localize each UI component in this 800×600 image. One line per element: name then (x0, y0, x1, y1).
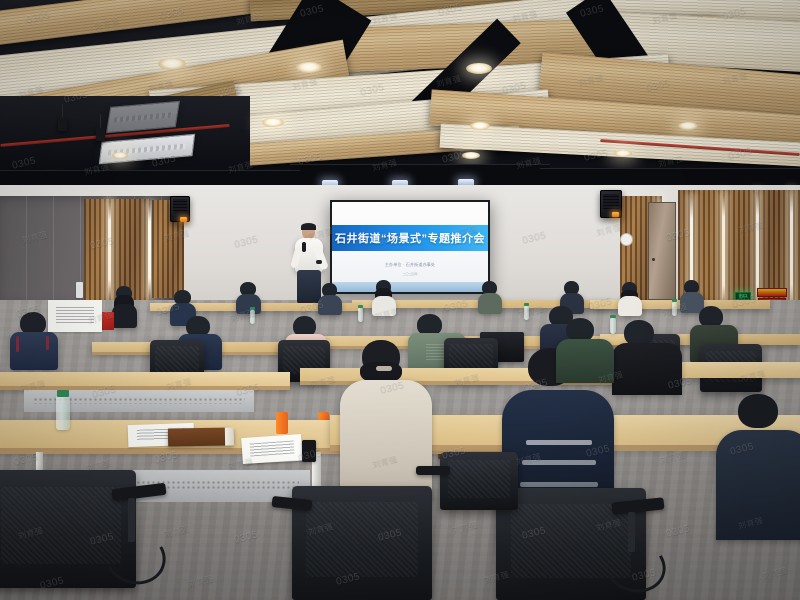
chair-armrest[interactable] (416, 466, 450, 475)
ceiling-downlight (470, 122, 490, 130)
ceiling-downlight (296, 62, 322, 73)
presenter (292, 224, 326, 304)
projection-screen: 石井街道“场景式”专题推介会 主办单位 · 石井街道办事处 二〇二四年 (330, 200, 490, 294)
bottle-cap (358, 305, 363, 308)
water-bottle (672, 302, 677, 316)
slide-subtitle: 主办单位 · 石井街道办事处 (332, 262, 488, 268)
lanyard-icon (16, 336, 19, 352)
office-chair[interactable] (440, 452, 518, 510)
side-door[interactable] (648, 202, 676, 300)
document-sheet (241, 434, 303, 464)
document-sheet (48, 300, 102, 332)
ceiling-downlight (262, 118, 284, 127)
water-bottle (610, 318, 616, 334)
bottle-cap (672, 299, 677, 302)
ceiling: 出口 出口 出口 (0, 0, 800, 200)
speaker-indicator-icon (180, 217, 187, 222)
ceiling-downlight (614, 150, 632, 157)
ceiling-downlight (112, 152, 128, 159)
person-head (738, 394, 778, 428)
person-torso (556, 339, 614, 383)
water-bottle (524, 306, 529, 320)
red-desk-item (100, 312, 114, 330)
exit-sign-label: 出口 (739, 294, 748, 298)
wristwatch-icon (316, 260, 322, 264)
person-torso (112, 304, 137, 328)
door-handle-icon[interactable] (652, 258, 655, 261)
microphone-icon (302, 242, 306, 252)
thermos-bottle (276, 412, 288, 434)
slide-title: 石井街道“场景式”专题推介会 (335, 230, 485, 246)
bottle-cap (250, 307, 255, 310)
person-torso (612, 343, 682, 395)
mobile-phone (302, 440, 316, 462)
presenter-trousers (297, 270, 321, 304)
ceiling-downlight (462, 152, 480, 159)
ceiling-downlight (678, 122, 698, 130)
bottle-cap (524, 303, 529, 306)
person-torso (236, 294, 261, 314)
office-chair-foreground[interactable] (292, 486, 432, 600)
lanyard-icon (46, 336, 49, 350)
slide-footer-strip (332, 282, 488, 292)
conference-room-photo: 出口 出口 出口 (0, 0, 800, 600)
hand-sanitizer-bottle (76, 282, 83, 298)
wall-clock-icon (620, 233, 633, 246)
shirt-stripe (522, 460, 596, 465)
pendant-speaker (96, 128, 105, 141)
ceiling-downlight (466, 63, 492, 74)
bottle-cap (57, 390, 69, 397)
bottle-cap (610, 315, 616, 318)
presenter-hair (301, 223, 316, 230)
ceiling-downlight (158, 58, 186, 70)
slide-subtitle-small: 二〇二四年 (332, 272, 488, 276)
pendant-speaker (58, 118, 67, 131)
wall-led-strip (790, 190, 793, 308)
person-torso (716, 430, 800, 540)
hair-clip-icon (376, 366, 392, 371)
slide-title-banner: 石井街道“场景式”专题推介会 (332, 225, 488, 251)
wall-led-strip (148, 203, 151, 297)
person-torso (340, 380, 432, 500)
speaker-indicator-icon (612, 212, 619, 217)
wall-led-strip (108, 201, 111, 299)
person-torso (618, 296, 642, 316)
water-bottle (56, 396, 70, 430)
leather-notebook (168, 427, 234, 446)
projected-slide: 石井街道“场景式”专题推介会 主办单位 · 石井街道办事处 二〇二四年 (332, 202, 488, 292)
exit-sign-icon: 出口 (735, 292, 751, 300)
wall-led-strip (722, 194, 725, 308)
person-torso (372, 296, 396, 316)
shirt-stripe (520, 482, 598, 487)
fire-safety-sign (757, 288, 787, 297)
person-torso (318, 295, 342, 315)
person-torso (478, 293, 502, 314)
shirt-stripe (526, 440, 592, 445)
water-bottle (358, 308, 363, 322)
water-bottle (250, 310, 255, 324)
